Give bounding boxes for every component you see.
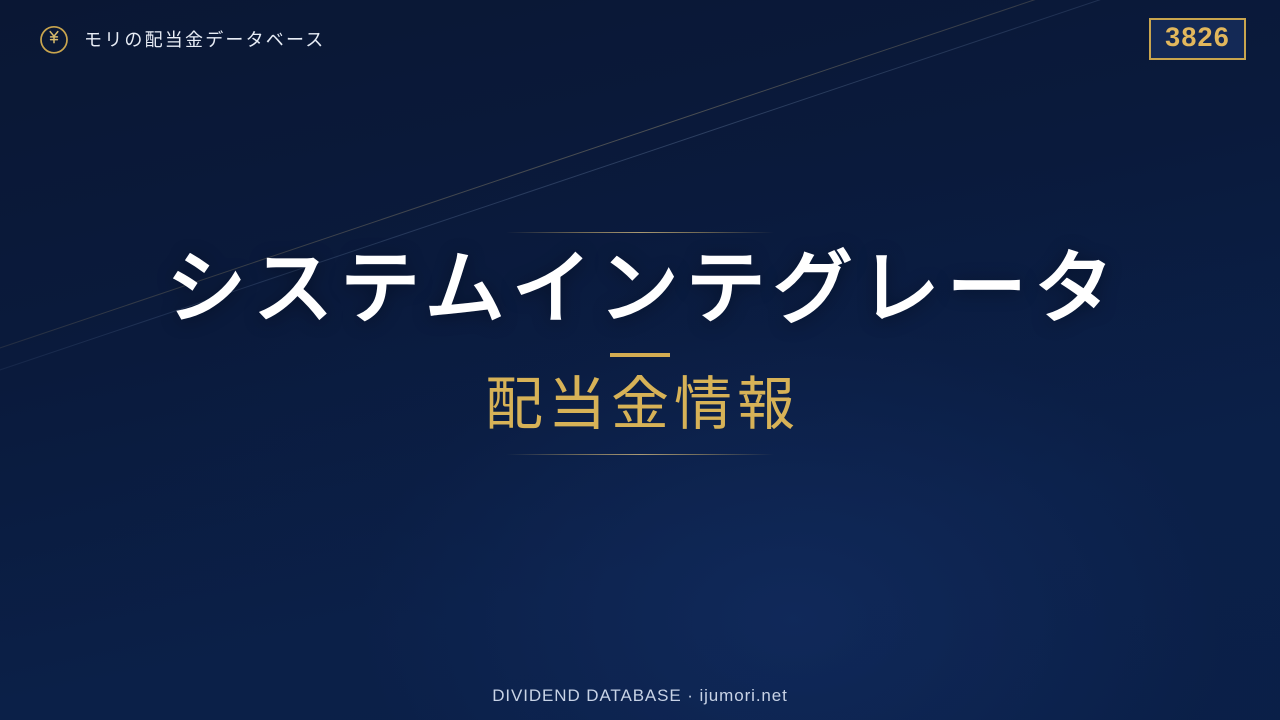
- brand-name: モリの配当金データベース: [84, 26, 326, 52]
- yen-circle-icon: [38, 23, 70, 55]
- title-slide: モリの配当金データベース 3826 システムインテグレータ 配当金情報 DIVI…: [0, 0, 1280, 720]
- page-subtitle: 配当金情報: [480, 375, 800, 436]
- slide-header: モリの配当金データベース 3826: [0, 0, 1280, 78]
- stock-code-badge: 3826: [1149, 18, 1246, 59]
- divider-top: [506, 232, 774, 233]
- title-block: システムインテグレータ 配当金情報: [0, 232, 1280, 455]
- footer-text: DIVIDEND DATABASE · ijumori.net: [0, 686, 1280, 706]
- gold-accent-bar: [610, 353, 670, 357]
- divider-bottom: [506, 454, 774, 455]
- brand: モリの配当金データベース: [38, 23, 326, 55]
- page-title: システムインテグレータ: [159, 249, 1121, 329]
